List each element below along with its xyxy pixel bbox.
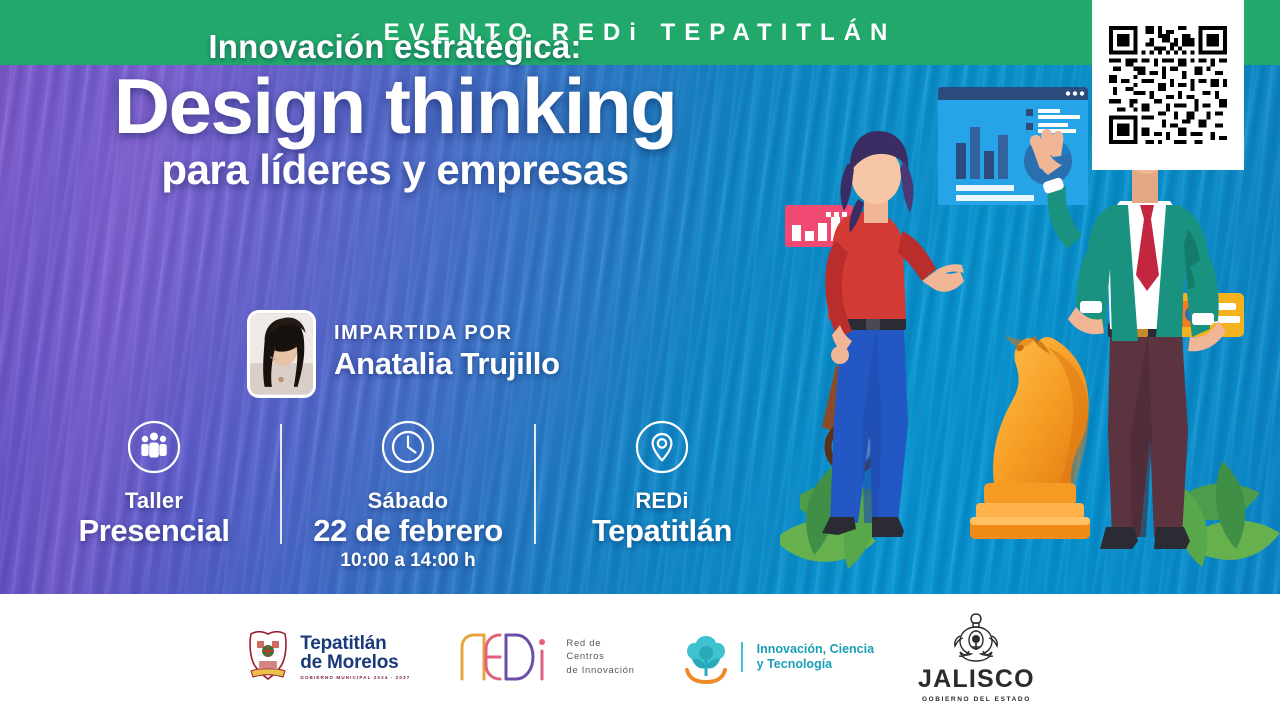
redi-line2: Centros bbox=[566, 650, 634, 663]
speaker-portrait bbox=[250, 313, 313, 395]
title-block: Innovación estratégica: Design thinking … bbox=[0, 28, 790, 193]
jalisco-wordmark: JALISCO bbox=[918, 665, 1035, 694]
event-details-row: Taller Presencial Sábado 22 de febrero 1… bbox=[28, 420, 788, 580]
footer-logos: Tepatitlán de Morelos GOBIERNO MUNICIPAL… bbox=[0, 594, 1280, 720]
detail-date-value: 22 de febrero bbox=[313, 513, 503, 549]
chess-knight bbox=[970, 335, 1090, 539]
speaker-text: IMPARTIDA POR Anatalia Trujillo bbox=[334, 322, 560, 386]
detail-date-top: Sábado bbox=[368, 488, 449, 514]
ict-separator bbox=[741, 642, 743, 672]
detail-time: 10:00 a 14:00 h bbox=[340, 550, 475, 572]
ict-line2: y Tecnología bbox=[757, 657, 874, 672]
redi-text: Red de Centros de Innovación bbox=[566, 637, 634, 677]
event-poster: EVENTO REDi TEPATITLÁN bbox=[0, 0, 1280, 720]
ict-text: Innovación, Ciencia y Tecnología bbox=[757, 642, 874, 673]
jalisco-subtitle: GOBIERNO DEL ESTADO bbox=[922, 696, 1031, 703]
tepatitlan-line1: Tepatitlán bbox=[300, 634, 410, 653]
title-pre: Innovación estratégica: bbox=[0, 28, 790, 66]
detail-location-value: Tepatitlán bbox=[592, 513, 732, 549]
redi-logo: Red de Centros de Innovación bbox=[454, 629, 634, 685]
detail-modality-value: Presencial bbox=[78, 513, 229, 549]
clock-icon bbox=[381, 420, 435, 474]
qr-code[interactable] bbox=[1109, 26, 1227, 144]
ict-flower-icon bbox=[679, 630, 733, 684]
jalisco-gobierno-del-estado-logo: JALISCO GOBIERNO DEL ESTADO bbox=[918, 612, 1035, 703]
tepatitlan-text: Tepatitlán de Morelos GOBIERNO MUNICIPAL… bbox=[300, 634, 410, 680]
location-pin-icon bbox=[635, 420, 689, 474]
detail-location: REDi Tepatitlán bbox=[536, 420, 788, 549]
speaker-name: Anatalia Trujillo bbox=[334, 346, 560, 382]
tepatitlan-line3: GOBIERNO MUNICIPAL 2024 - 2027 bbox=[300, 676, 410, 681]
redi-mark-icon bbox=[454, 629, 554, 685]
ict-line1: Innovación, Ciencia bbox=[757, 642, 874, 657]
tepatitlan-de-morelos-logo: Tepatitlán de Morelos GOBIERNO MUNICIPAL… bbox=[245, 631, 410, 683]
redi-line1: Red de bbox=[566, 637, 634, 650]
qr-code-panel[interactable] bbox=[1092, 0, 1244, 170]
detail-modality-top: Taller bbox=[125, 488, 183, 514]
detail-location-top: REDi bbox=[635, 488, 688, 514]
people-group-icon bbox=[127, 420, 181, 474]
green-leaves-right bbox=[1172, 461, 1280, 567]
tepatitlan-line2: de Morelos bbox=[300, 653, 410, 672]
innovacion-ciencia-tecnologia-logo: Innovación, Ciencia y Tecnología bbox=[679, 630, 874, 684]
speaker-block: IMPARTIDA POR Anatalia Trujillo bbox=[247, 310, 560, 398]
speaker-label: IMPARTIDA POR bbox=[334, 322, 560, 345]
detail-date: Sábado 22 de febrero 10:00 a 14:00 h bbox=[282, 420, 534, 572]
detail-modality: Taller Presencial bbox=[28, 420, 280, 549]
portrait-illustration bbox=[250, 313, 313, 395]
tepatitlan-coat-of-arms-icon bbox=[245, 631, 291, 683]
page-title: Design thinking bbox=[0, 68, 790, 144]
redi-line3: de Innovación bbox=[566, 664, 634, 677]
jalisco-emblem-icon bbox=[946, 612, 1006, 664]
avatar bbox=[247, 310, 316, 398]
title-sub: para líderes y empresas bbox=[0, 148, 790, 192]
